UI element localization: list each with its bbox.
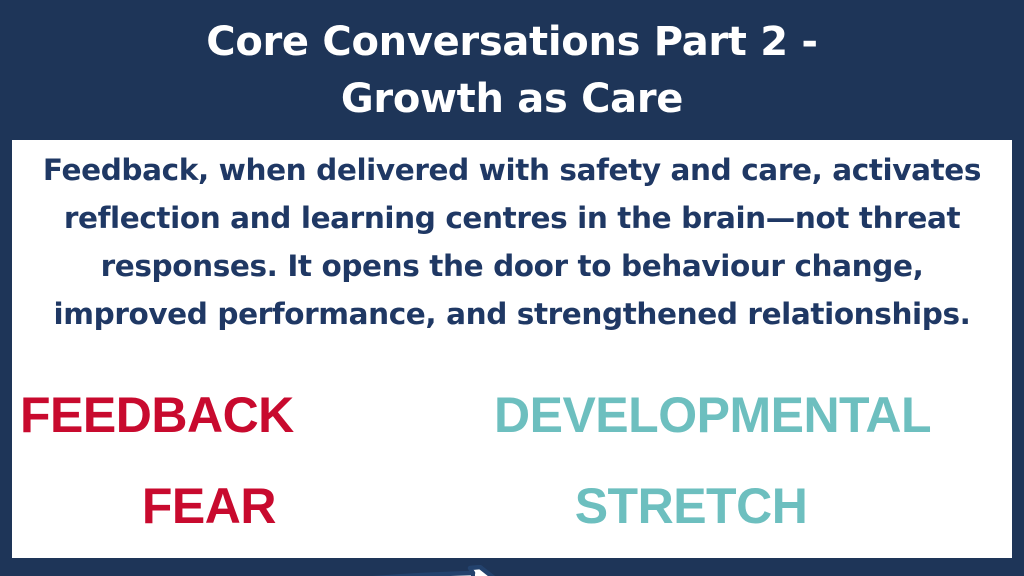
- developmental-stretch-line-2: STRETCH: [494, 461, 1012, 552]
- feedback-fear-line-2: FEAR: [20, 461, 350, 552]
- developmental-stretch-line-1: DEVELOPMENTAL: [494, 370, 1012, 461]
- body-line-3: responses. It opens the door to behaviou…: [16, 242, 1008, 290]
- sketch-right-arrow-icon: [330, 565, 530, 576]
- slide-canvas: Core Conversations Part 2 - Growth as Ca…: [0, 0, 1024, 576]
- page-title-line-1: Core Conversations Part 2 -: [206, 14, 817, 71]
- comparison-left-label: FEEDBACK FEAR: [20, 370, 350, 552]
- comparison-row: FEEDBACK FEAR DEVELOPMENTAL STRETCH: [12, 370, 1012, 520]
- page-title-line-2: Growth as Care: [341, 71, 683, 128]
- body-line-4: improved performance, and strengthened r…: [16, 290, 1008, 338]
- title-band: Core Conversations Part 2 - Growth as Ca…: [0, 0, 1024, 140]
- body-line-1: Feedback, when delivered with safety and…: [16, 146, 1008, 194]
- body-paragraph: Feedback, when delivered with safety and…: [16, 146, 1008, 338]
- content-card: Feedback, when delivered with safety and…: [12, 140, 1012, 558]
- feedback-fear-line-1: FEEDBACK: [20, 370, 350, 461]
- body-line-2: reflection and learning centres in the b…: [16, 194, 1008, 242]
- comparison-right-label: DEVELOPMENTAL STRETCH: [494, 370, 1012, 552]
